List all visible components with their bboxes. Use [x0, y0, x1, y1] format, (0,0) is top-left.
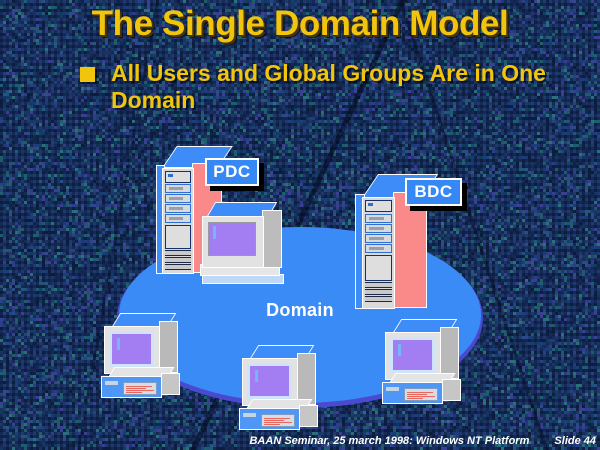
- case-side-panel: [161, 373, 180, 395]
- bullet-item: All Users and Global Groups Are in One D…: [80, 60, 570, 114]
- tower-drive-bay: [165, 184, 191, 193]
- footer-text: BAAN Seminar, 25 march 1998: Windows NT …: [249, 435, 529, 447]
- tower-blank-panel: [365, 255, 392, 281]
- pdc-label-box: PDC: [205, 158, 259, 186]
- case-power-button[interactable]: [386, 387, 399, 391]
- case-drive-panel: [123, 382, 157, 395]
- tower-power-led-icon: [168, 174, 173, 177]
- tower-power-led-icon: [368, 203, 373, 206]
- case-power-button[interactable]: [105, 381, 118, 385]
- case-power-button[interactable]: [243, 413, 256, 417]
- tower-drive-bay: [165, 204, 191, 213]
- tower-top-bezel: [365, 200, 392, 212]
- bdc-label-box: BDC: [405, 178, 462, 206]
- slide-number: Slide 44: [554, 435, 596, 447]
- case-drive-panel: [404, 388, 438, 401]
- tower-vent-slot: [165, 257, 191, 263]
- tower-vent-slot: [165, 250, 191, 256]
- pdc-monitor: [196, 198, 300, 290]
- slide-footer: BAAN Seminar, 25 march 1998: Windows NT …: [0, 435, 600, 447]
- monitor-side-panel: [440, 327, 459, 379]
- tower-drive-bay: [165, 214, 191, 223]
- monitor-screen-cursor-icon: [117, 338, 120, 350]
- tower-vent-slot: [365, 296, 392, 302]
- slide-canvas: The Single Domain Model All Users and Gl…: [0, 0, 600, 450]
- monitor-side-panel: [297, 353, 316, 405]
- tower-blank-panel: [165, 225, 191, 249]
- case-drive-panel: [261, 414, 295, 427]
- monitor-screen-cursor-icon: [398, 344, 401, 356]
- tower-side-panel: [393, 192, 427, 308]
- monitor-screen-cursor-icon: [255, 370, 258, 382]
- monitor-side-panel: [262, 210, 282, 268]
- case-side-panel: [442, 379, 461, 401]
- workstation-right: [380, 317, 476, 412]
- tower-drive-bay: [365, 234, 392, 243]
- pdc-label-text: PDC: [213, 162, 250, 182]
- tower-vent-slot: [365, 289, 392, 295]
- monitor-screen-cursor-icon: [213, 226, 216, 239]
- monitor-side-panel: [159, 321, 178, 373]
- tower-top-bezel: [165, 171, 191, 183]
- square-bullet-icon: [80, 67, 95, 82]
- tower-drive-bay: [365, 214, 392, 223]
- tower-drive-bay: [365, 224, 392, 233]
- bullet-item-label: All Users and Global Groups Are in One D…: [111, 60, 570, 114]
- tower-drive-bay: [365, 244, 392, 253]
- workstation-center: [237, 343, 333, 438]
- tower-vent-slot: [165, 264, 191, 270]
- page-title: The Single Domain Model: [0, 4, 600, 44]
- tower-vent-slot: [365, 282, 392, 288]
- workstation-left: [99, 311, 195, 403]
- tower-drive-bay: [165, 194, 191, 203]
- bdc-label-text: BDC: [414, 182, 452, 202]
- case-side-panel: [299, 405, 318, 427]
